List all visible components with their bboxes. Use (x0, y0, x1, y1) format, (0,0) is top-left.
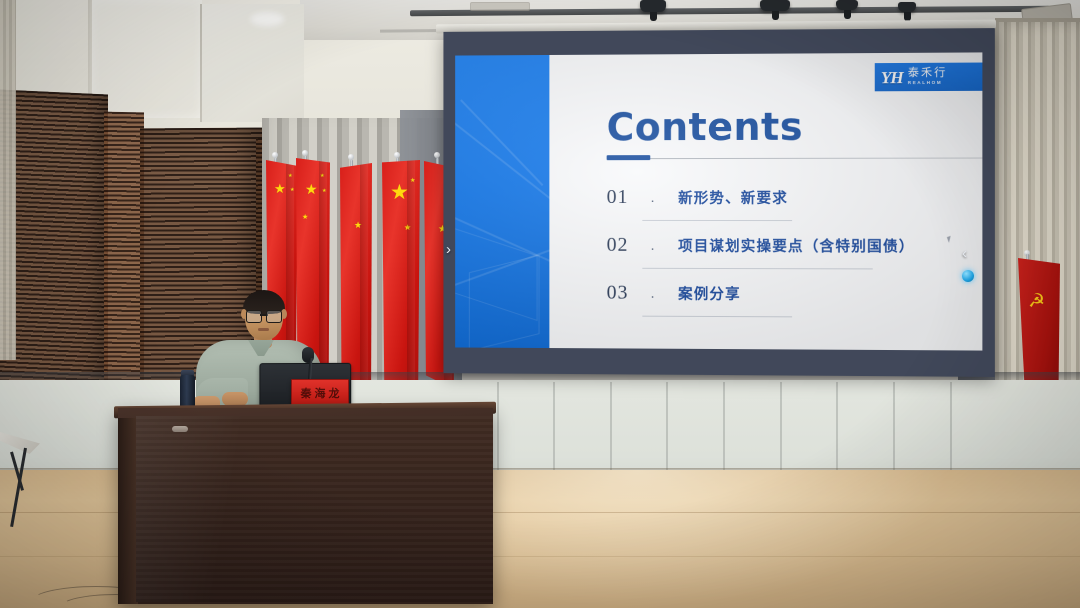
company-logo: YH 泰禾行 REALHOM (875, 63, 983, 92)
contents-item: 02 · 项目谋划实操要点（含特别国债） (607, 232, 983, 281)
podium-front-face (136, 416, 493, 602)
decorative-line (460, 99, 543, 185)
chinese-flag: ★ ★ ★ (382, 160, 420, 398)
slide-body: YH 泰禾行 REALHOM Contents 01 · 新形势、新 (549, 52, 982, 350)
flag-star: ★ (305, 182, 318, 196)
flag-star-small: ★ (302, 214, 308, 221)
speaker-mouth (258, 328, 269, 331)
contents-item-separator: · (650, 192, 655, 208)
contents-item-text: 新形势、新要求 (678, 187, 788, 208)
logo-text-group: 泰禾行 REALHOM (908, 68, 948, 86)
floor-reflection (430, 470, 950, 608)
party-flag-emblem: ☭ (1028, 292, 1048, 314)
ceiling-spotlight (760, 0, 790, 11)
contents-item-text: 项目谋划实操要点（含特别国债） (678, 235, 915, 256)
contents-list: 01 · 新形势、新要求 02 · 项目谋划实操要点（含特别国债） (607, 184, 983, 330)
glass-reflection (250, 12, 284, 26)
title-rule (607, 157, 983, 159)
decorative-shape (469, 255, 540, 348)
screenshot-root: ★ ★ ★ ★ ★ ★ ★ ★ (0, 0, 1080, 608)
logo-english-name: REALHOM (908, 81, 948, 86)
screen-left-chevron-icon[interactable]: › (446, 242, 451, 257)
podium-badge (172, 426, 188, 432)
contents-item-underline (642, 268, 872, 270)
logo-mark-icon: YH (881, 69, 903, 86)
name-plate-char: 龙 (329, 388, 340, 399)
left-wall-segment (92, 0, 202, 118)
logo-chinese-name: 泰禾行 (908, 68, 948, 79)
ceiling-vent (470, 2, 530, 11)
contents-item-underline (642, 316, 792, 318)
flag-star: ★ (390, 182, 409, 203)
contents-item: 03 · 案例分享 (607, 280, 983, 330)
ceiling-spotlight (836, 0, 858, 10)
presentation-slide: REALHOME YH 泰禾行 REALHOM (455, 52, 982, 350)
contents-item-number: 03 (607, 282, 629, 305)
screen-indicator-dot[interactable] (962, 270, 974, 282)
title-rule-accent (607, 155, 651, 160)
contents-item: 01 · 新形势、新要求 (607, 184, 983, 233)
contents-item-separator: · (650, 240, 655, 256)
ceiling-spotlight (640, 0, 666, 12)
glasses-lens (266, 310, 282, 323)
slide-title: Contents (607, 108, 803, 147)
projection-screen: REALHOME YH 泰禾行 REALHOM (443, 28, 994, 377)
contents-item-number: 02 (607, 234, 629, 257)
left-curtain (0, 0, 16, 360)
decorative-line (455, 115, 549, 208)
name-plate-char: 海 (315, 388, 326, 399)
name-plate-char: 秦 (301, 388, 312, 399)
slide-accent-panel: REALHOME (455, 55, 549, 348)
screen-right-chevron-icon[interactable]: ‹ (962, 246, 967, 261)
glasses-lens (246, 310, 262, 323)
screen-surface: REALHOME YH 泰禾行 REALHOM (455, 52, 982, 350)
contents-item-underline (642, 220, 792, 221)
glasses-icon (246, 310, 282, 321)
microphone-head (302, 347, 314, 363)
ceiling-spotlight (898, 2, 916, 12)
contents-item-separator: · (650, 288, 655, 304)
flag-star: ★ (274, 182, 286, 195)
contents-item-text: 案例分享 (678, 283, 741, 304)
contents-item-number: 01 (607, 186, 629, 209)
podium-side (118, 418, 138, 604)
